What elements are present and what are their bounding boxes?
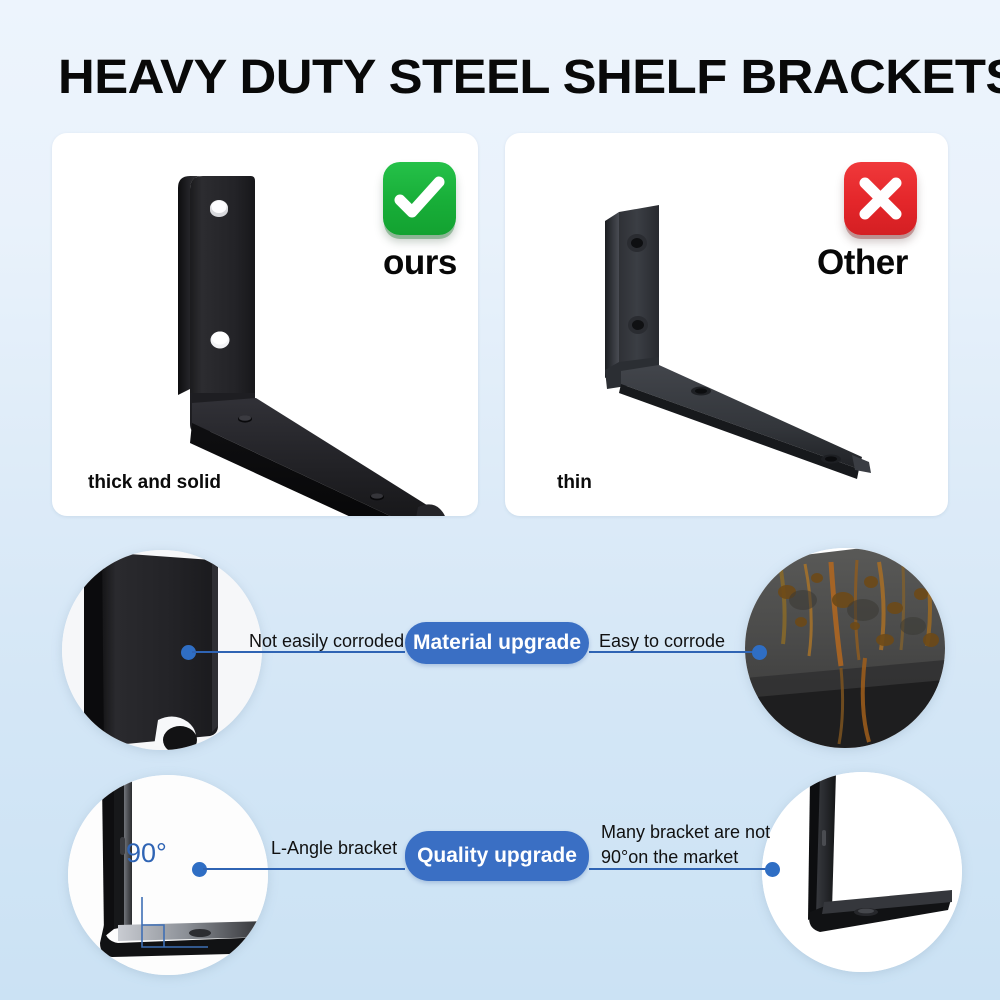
feature-1-right-label: Easy to corrode bbox=[599, 631, 725, 652]
page-title: HEAVY DUTY STEEL SHELF BRACKETS bbox=[58, 50, 1000, 105]
angle-value-label: 90° bbox=[126, 838, 167, 869]
connector-dot-right-1 bbox=[752, 645, 767, 660]
comparison-card-other: Other thin bbox=[505, 133, 948, 516]
ours-label: ours bbox=[383, 243, 457, 283]
feature-2-right-label: Many bracket are not 90°on the market bbox=[601, 820, 776, 870]
infographic-canvas: HEAVY DUTY STEEL SHELF BRACKETS bbox=[0, 0, 1000, 1000]
off-angle-bracket-closeup-image bbox=[762, 772, 962, 972]
rusted-bracket-closeup-image bbox=[745, 548, 945, 748]
clean-bracket-closeup-image bbox=[62, 550, 262, 750]
ours-caption: thick and solid bbox=[88, 472, 221, 494]
feature-1-left-label: Not easily corroded bbox=[249, 631, 404, 652]
feature-2-pill: Quality upgrade bbox=[405, 831, 589, 881]
right-angle-bracket-closeup-image bbox=[68, 775, 268, 975]
connector-line-left-2 bbox=[203, 868, 405, 870]
feature-1-pill: Material upgrade bbox=[405, 622, 589, 664]
cross-badge-icon bbox=[844, 162, 917, 235]
comparison-card-ours: ours thick and solid bbox=[52, 133, 478, 516]
other-label: Other bbox=[817, 243, 908, 283]
feature-2-left-label: L-Angle bracket bbox=[271, 838, 397, 859]
check-badge-icon bbox=[383, 162, 456, 235]
other-caption: thin bbox=[557, 472, 592, 494]
